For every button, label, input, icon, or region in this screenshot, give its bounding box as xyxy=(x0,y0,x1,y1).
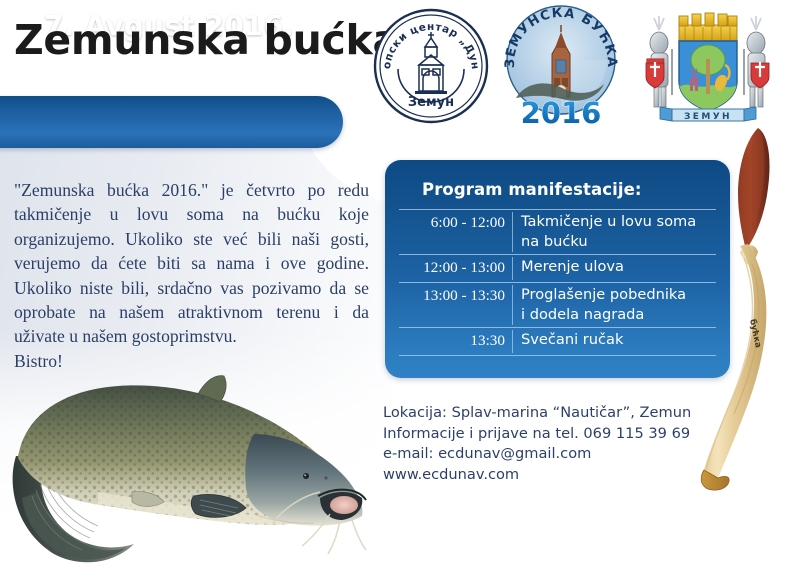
intro-paragraph: "Zemunska bućka 2016." je četvrto po red… xyxy=(14,180,369,346)
schedule-time: 13:00 - 13:30 xyxy=(399,285,512,306)
intro-closing: Bistro! xyxy=(14,349,369,373)
knight-right xyxy=(744,16,769,107)
program-panel: Program manifestacije: 6:00 - 12:00 Takm… xyxy=(385,160,730,378)
schedule-time: 6:00 - 12:00 xyxy=(399,212,512,233)
table-row: 6:00 - 12:00 Takmičenje u lovu soma na b… xyxy=(399,209,716,254)
contact-location: Lokacija: Splav-marina “Nautičar”, Zemun xyxy=(383,403,691,424)
contact-website: www.ecdunav.com xyxy=(383,465,691,486)
schedule-time: 12:00 - 13:00 xyxy=(399,257,512,278)
logo-row: Европски центар „Дунав“ Земун xyxy=(372,2,790,128)
zemun-coat-of-arms-icon: ЗЕМУН xyxy=(632,3,782,128)
table-row: 13:00 - 13:30 Proglašenje pobednika i do… xyxy=(399,282,716,327)
poster-root: Zemunska bućka 7. Avgust 2016. "Zemunska… xyxy=(0,0,790,578)
contact-block: Lokacija: Splav-marina “Nautičar”, Zemun… xyxy=(383,403,691,485)
knight-left xyxy=(646,16,672,107)
zemunska-bucka-badge-icon: ЗЕМУНСКА БУЋКА 2016 xyxy=(500,2,622,128)
catfish-illustration xyxy=(2,368,392,578)
table-row: 12:00 - 13:00 Merenje ulova xyxy=(399,254,716,282)
intro-text-block: "Zemunska bućka 2016." je četvrto po red… xyxy=(14,178,369,373)
date-banner xyxy=(0,96,343,148)
contact-email: e-mail: ecdunav@gmail.com xyxy=(383,444,691,465)
svg-text:Земун: Земун xyxy=(408,95,454,110)
table-row-spacer xyxy=(399,355,716,378)
bucka-wooden-tool: бућка xyxy=(680,118,790,518)
european-center-danube-seal-icon: Европски центар „Дунав“ Земун xyxy=(372,7,490,125)
badge-year: 2016 xyxy=(521,96,602,128)
table-row: 13:30 Svečani ručak xyxy=(399,327,716,355)
schedule-time: 13:30 xyxy=(399,330,512,351)
program-schedule-table: 6:00 - 12:00 Takmičenje u lovu soma na b… xyxy=(399,209,716,378)
program-heading: Program manifestacije: xyxy=(422,180,642,199)
page-title: Zemunska bućka xyxy=(14,16,400,64)
contact-phone: Informacije i prijave na tel. 069 115 39… xyxy=(383,424,691,445)
